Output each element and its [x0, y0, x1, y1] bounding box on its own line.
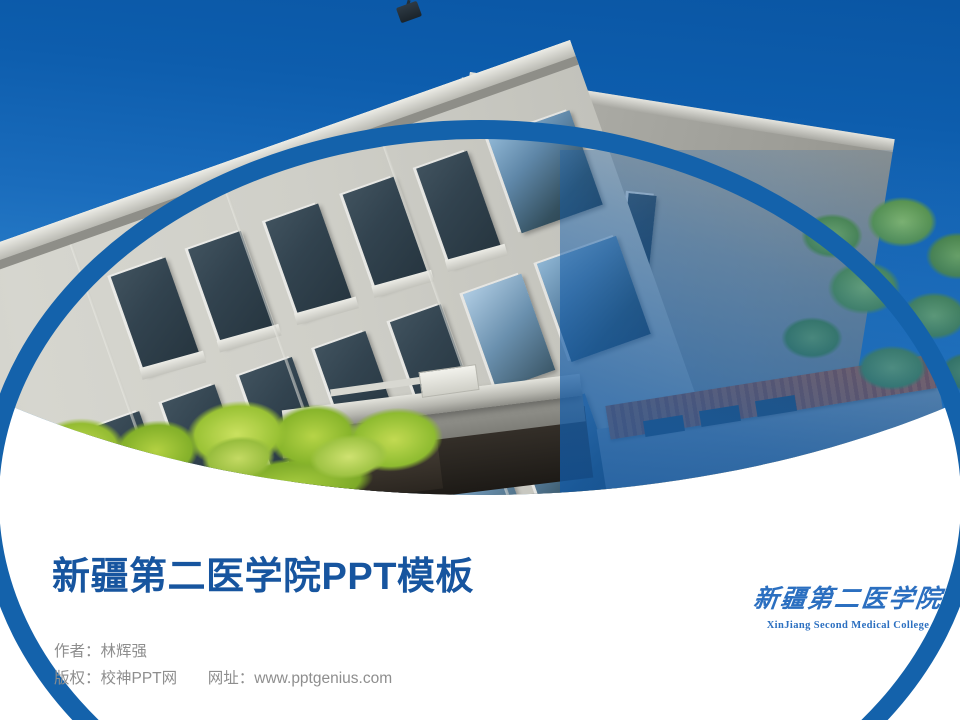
- copyright-label: 版权：校神PPT网: [54, 670, 177, 687]
- campus-building-photo: [0, 0, 960, 505]
- slide-meta: 作者：林辉强 版权：校神PPT网 网址：www.pptgenius.com: [54, 638, 392, 692]
- university-logo: 新疆第二医学院 XinJiang Second Medical College: [752, 585, 944, 641]
- slide-root: 新疆第二医学院PPT模板 作者：林辉强 版权：校神PPT网 网址：www.ppt…: [0, 0, 960, 720]
- author-line: 作者：林辉强: [54, 638, 392, 665]
- blue-photo-tint: [560, 150, 960, 505]
- website-label: 网址：www.pptgenius.com: [208, 670, 392, 687]
- page-title: 新疆第二医学院PPT模板: [52, 554, 474, 600]
- hero-photo-banner: [0, 0, 960, 505]
- logo-name-cn: 新疆第二医学院: [750, 585, 946, 615]
- logo-name-en: XinJiang Second Medical College: [752, 618, 944, 634]
- copyright-line: 版权：校神PPT网 网址：www.pptgenius.com: [54, 665, 392, 692]
